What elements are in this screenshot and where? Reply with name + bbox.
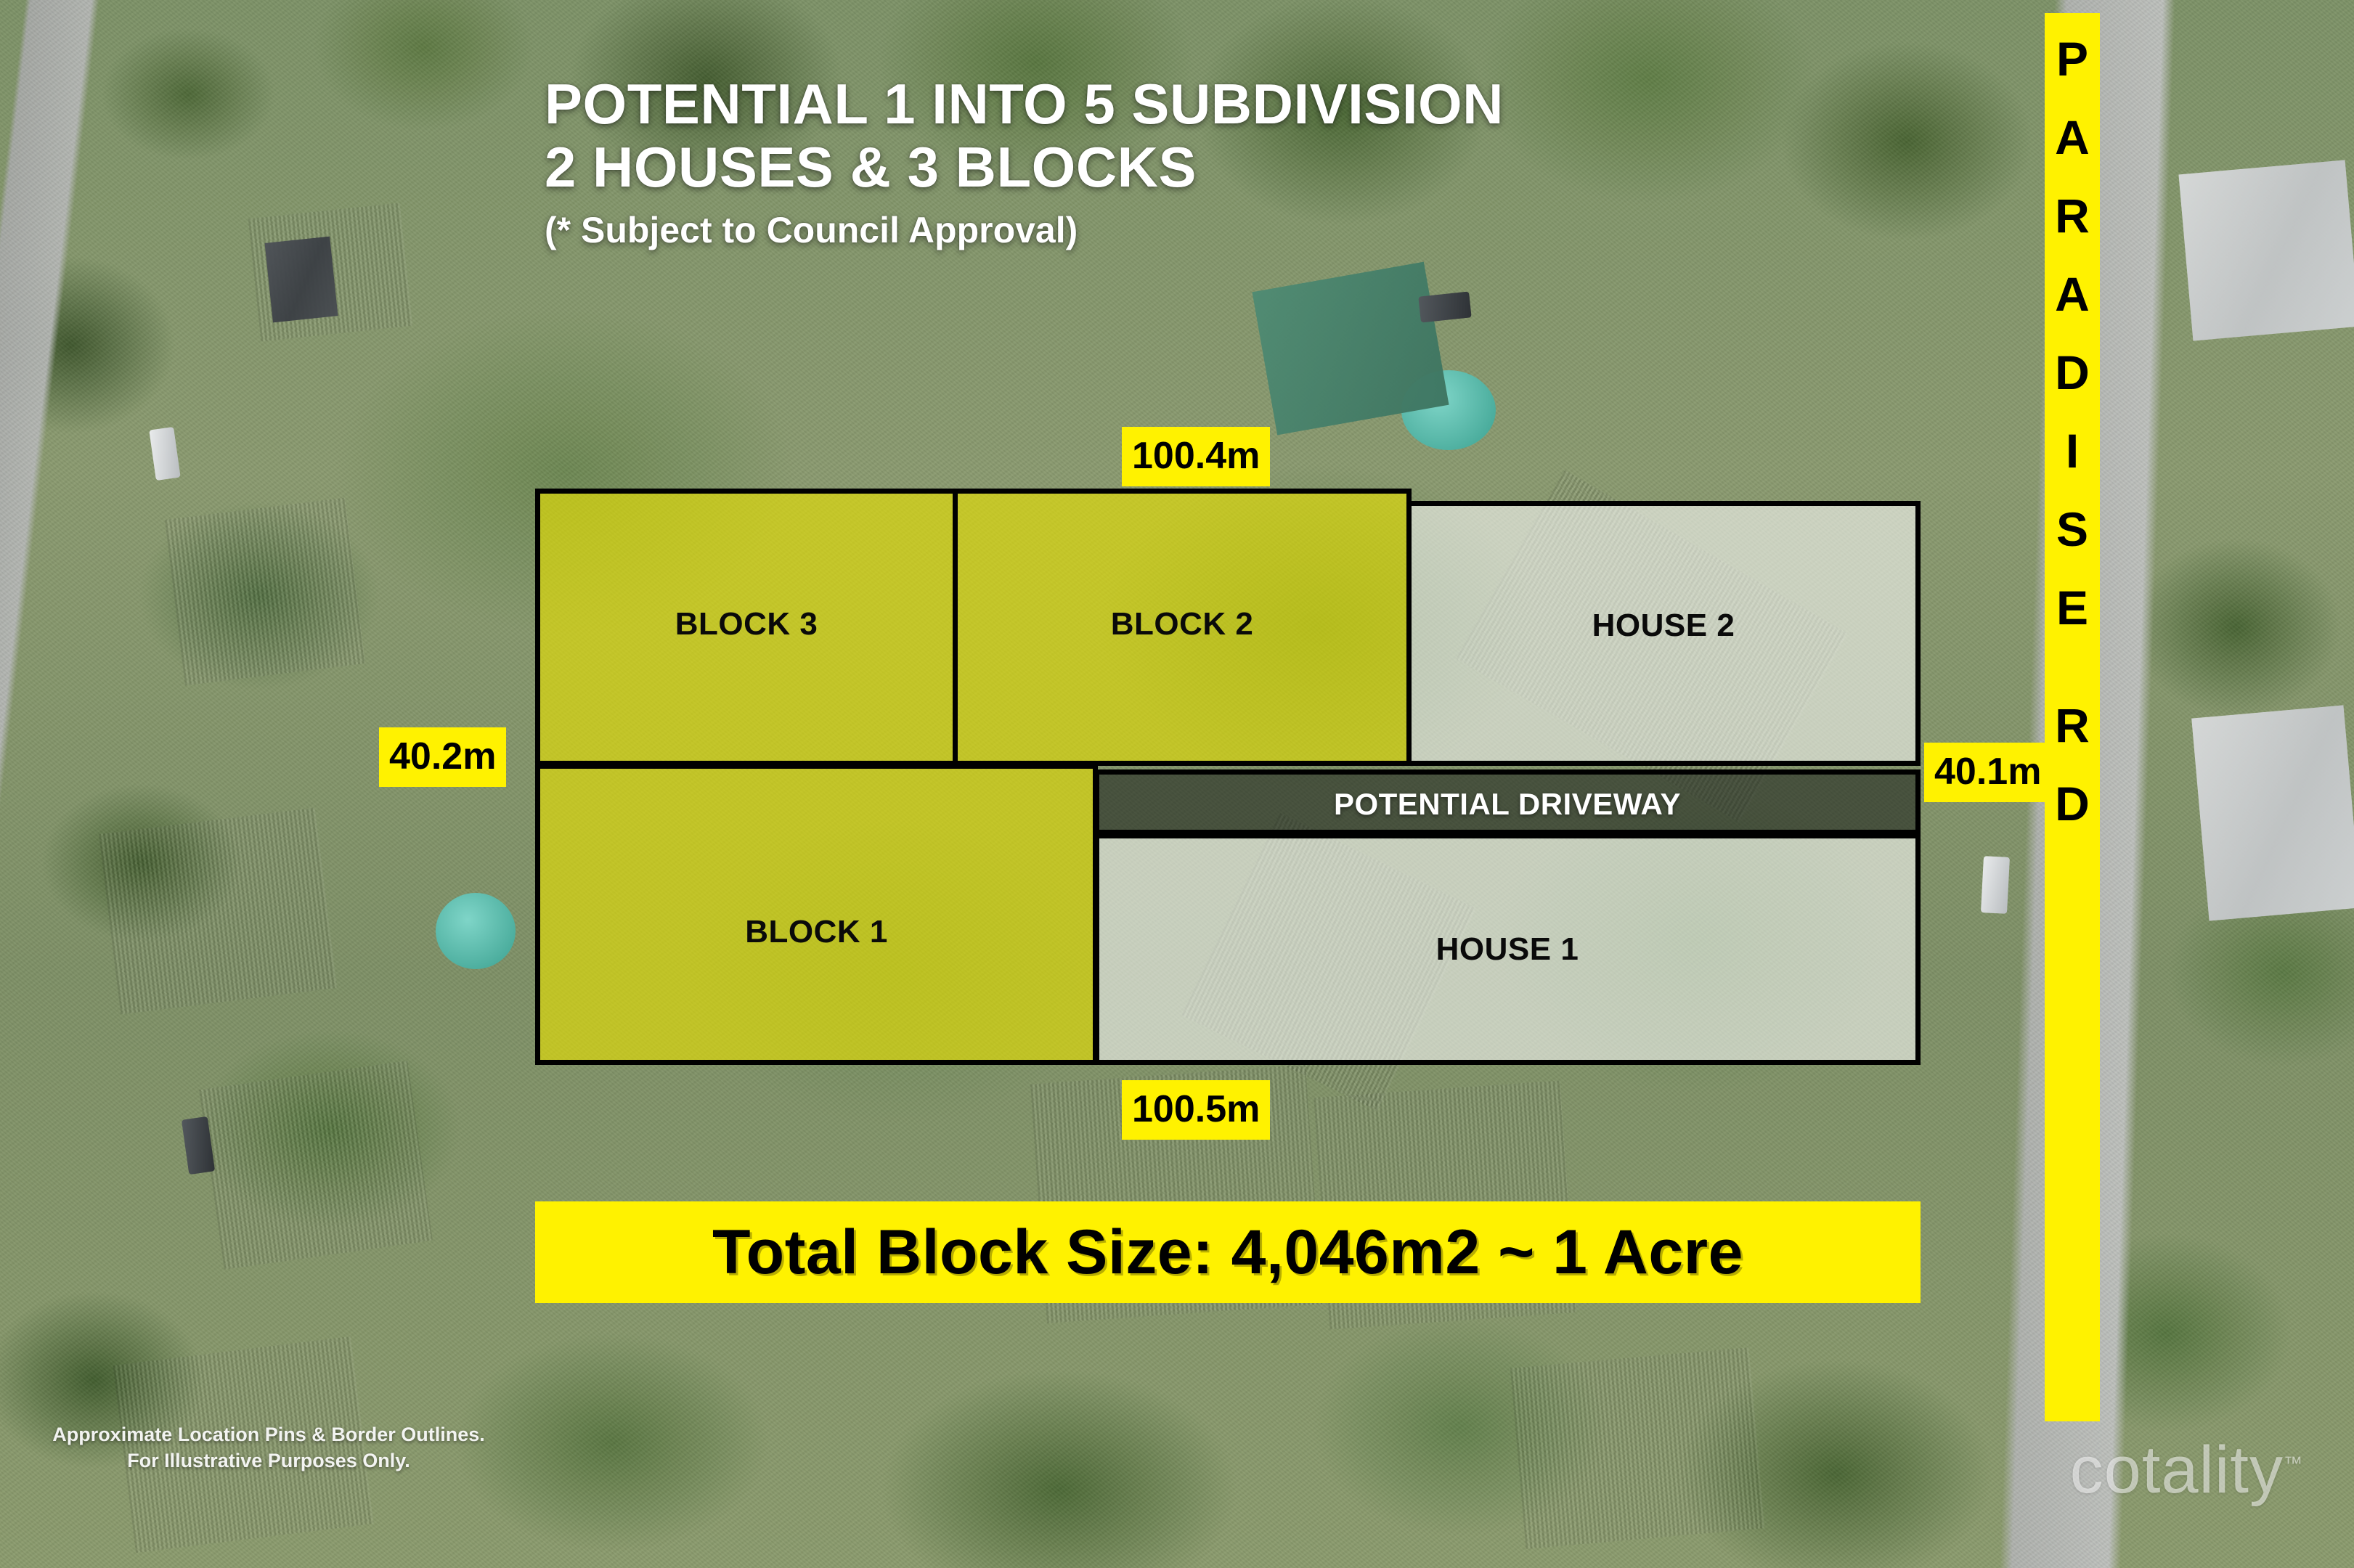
road-letter: A bbox=[2045, 270, 2100, 318]
neighbour-roof bbox=[2191, 705, 2354, 920]
cotality-watermark: cotality™ bbox=[2070, 1432, 2303, 1508]
neighbour-roof bbox=[264, 237, 338, 323]
road-letter: S bbox=[2045, 505, 2100, 553]
region-potential-driveway[interactable]: POTENTIAL DRIVEWAY bbox=[1094, 769, 1921, 835]
neighbour-roof bbox=[2178, 160, 2354, 340]
disclaimer-text: Approximate Location Pins & Border Outli… bbox=[29, 1421, 508, 1474]
parked-car bbox=[1981, 856, 2010, 914]
total-block-size-banner: Total Block Size: 4,046m2 ~ 1 Acre bbox=[535, 1201, 1921, 1303]
neighbour-roof bbox=[99, 808, 337, 1015]
region-block-1[interactable]: BLOCK 1 bbox=[535, 764, 1098, 1065]
region-label-block-1: BLOCK 1 bbox=[540, 914, 1093, 950]
neighbour-roof bbox=[1510, 1347, 1765, 1549]
total-block-size-text: Total Block Size: 4,046m2 ~ 1 Acre bbox=[712, 1217, 1743, 1289]
road-letter: P bbox=[2045, 35, 2100, 83]
region-label-house-1: HOUSE 1 bbox=[1099, 931, 1915, 968]
headline-block: POTENTIAL 1 INTO 5 SUBDIVISION 2 HOUSES … bbox=[545, 73, 1504, 250]
disclaimer-line-2: For Illustrative Purposes Only. bbox=[29, 1447, 508, 1474]
region-label-block-2: BLOCK 2 bbox=[958, 606, 1406, 642]
watermark-trademark: ™ bbox=[2284, 1452, 2303, 1474]
disclaimer-line-1: Approximate Location Pins & Border Outli… bbox=[29, 1421, 508, 1447]
measurement-bottom: 100.5m bbox=[1122, 1080, 1270, 1140]
paradise-rd-banner: P A R A D I S E R D bbox=[2045, 13, 2100, 1421]
region-block-3[interactable]: BLOCK 3 bbox=[535, 489, 958, 766]
region-block-2[interactable]: BLOCK 2 bbox=[953, 489, 1412, 766]
road-letter: R bbox=[2045, 701, 2100, 749]
watermark-text: cotality bbox=[2070, 1433, 2284, 1507]
measurement-top: 100.4m bbox=[1122, 427, 1270, 486]
region-label-house-2: HOUSE 2 bbox=[1412, 608, 1915, 644]
measurement-left: 40.2m bbox=[379, 727, 506, 787]
region-house-2[interactable]: HOUSE 2 bbox=[1406, 501, 1921, 766]
road-letter: D bbox=[2045, 780, 2100, 828]
property-marketing-image: POTENTIAL 1 INTO 5 SUBDIVISION 2 HOUSES … bbox=[0, 0, 2354, 1568]
road-letter: A bbox=[2045, 113, 2100, 161]
headline-line-2: 2 HOUSES & 3 BLOCKS bbox=[545, 136, 1504, 199]
headline-subtitle: (* Subject to Council Approval) bbox=[545, 210, 1504, 250]
neighbour-roof bbox=[199, 1061, 433, 1270]
parked-car bbox=[1418, 291, 1471, 322]
neighbour-roof bbox=[165, 498, 365, 686]
region-label-potential-driveway: POTENTIAL DRIVEWAY bbox=[1099, 787, 1915, 822]
road-letter: I bbox=[2045, 427, 2100, 475]
neighbour-roof bbox=[1252, 262, 1449, 436]
road-letter: E bbox=[2045, 584, 2100, 632]
headline-line-1: POTENTIAL 1 INTO 5 SUBDIVISION bbox=[545, 73, 1504, 136]
measurement-right: 40.1m bbox=[1924, 743, 2051, 802]
road-letter: R bbox=[2045, 192, 2100, 240]
region-label-block-3: BLOCK 3 bbox=[540, 606, 953, 642]
road-letter: D bbox=[2045, 348, 2100, 396]
neighbour-pool bbox=[436, 893, 516, 969]
region-house-1[interactable]: HOUSE 1 bbox=[1094, 833, 1921, 1065]
